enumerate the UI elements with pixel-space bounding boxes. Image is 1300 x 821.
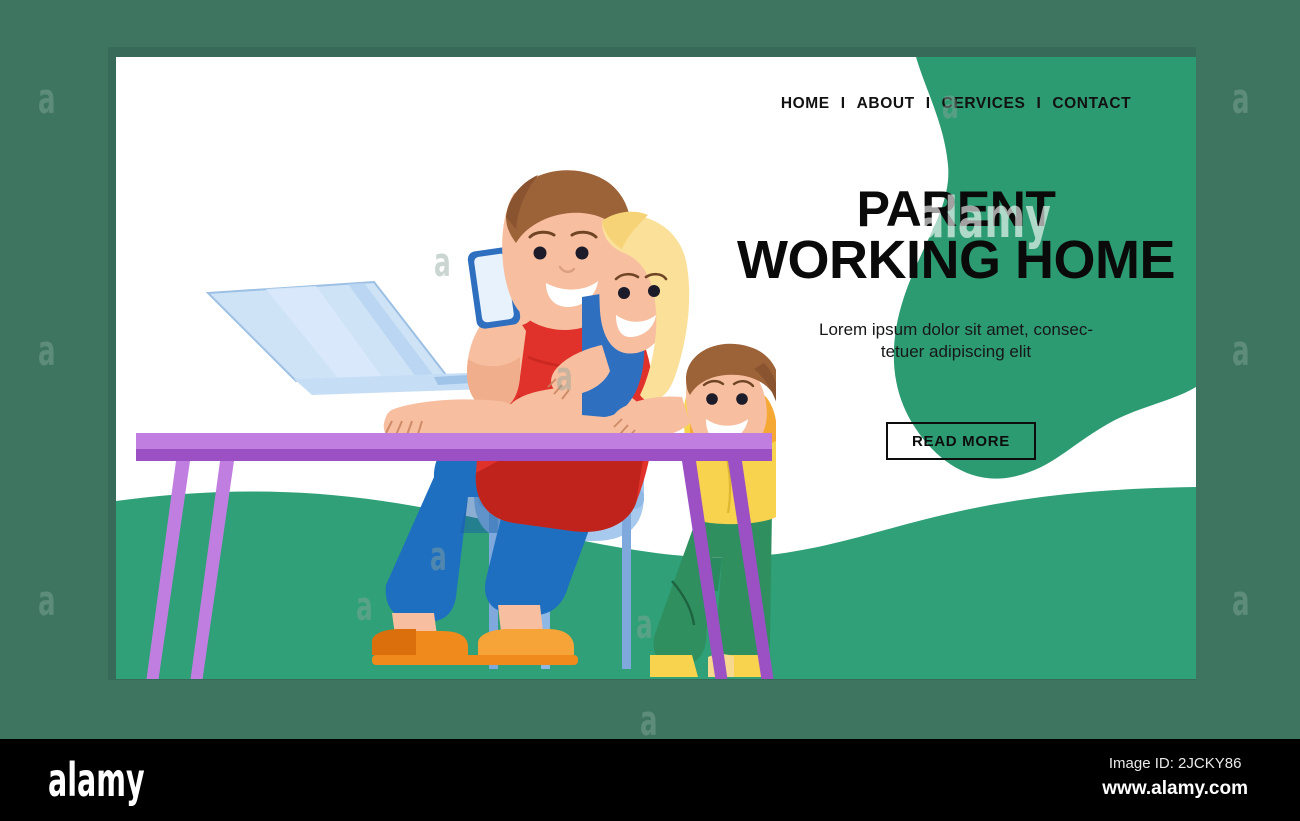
page-title: PARENT WORKING HOME (706, 185, 1196, 287)
stock-footer-bar: alamy Image ID: 2JCKY86 www.alamy.com (0, 739, 1300, 821)
laptop-illustration (208, 282, 488, 395)
nav-separator: I (915, 95, 942, 113)
watermark-a-icon: a (640, 700, 658, 739)
subcopy-line-2: tetuer adipiscing elit (881, 342, 1031, 361)
alamy-logo: alamy (48, 757, 145, 803)
watermark-a-icon: a (1232, 330, 1250, 372)
headline-line-2: WORKING HOME (706, 234, 1196, 287)
nav-separator: I (830, 95, 857, 113)
nav-item-home[interactable]: HOME (781, 95, 830, 113)
footer-meta: Image ID: 2JCKY86 www.alamy.com (1102, 753, 1248, 802)
image-id-label: Image ID: 2JCKY86 (1102, 753, 1248, 776)
nav-separator: I (1025, 95, 1052, 113)
nav-item-about[interactable]: ABOUT (857, 95, 915, 113)
screenshot-root: a a a a a a a (0, 0, 1300, 821)
watermark-a-icon: a (38, 78, 56, 120)
watermark-a-icon: a (1232, 580, 1250, 622)
watermark-a-icon: a (38, 580, 56, 622)
main-navigation[interactable]: HOME I ABOUT I CERVICES I CONTACT (716, 95, 1196, 113)
watermark-a-icon: a (38, 330, 56, 372)
read-more-button[interactable]: READ MORE (886, 422, 1036, 460)
hero-subcopy: Lorem ipsum dolor sit amet, consec- tetu… (736, 319, 1176, 364)
subcopy-line-1: Lorem ipsum dolor sit amet, consec- (819, 320, 1093, 339)
watermark-a-icon: a (1232, 78, 1250, 120)
hero-copy-column: HOME I ABOUT I CERVICES I CONTACT PARENT… (716, 57, 1196, 679)
nav-item-services[interactable]: CERVICES (942, 95, 1026, 113)
hero-illustration (116, 57, 776, 679)
headline-line-1: PARENT (857, 181, 1056, 237)
alamy-url: www.alamy.com (1102, 776, 1248, 803)
landing-page-card: HOME I ABOUT I CERVICES I CONTACT PARENT… (116, 57, 1196, 679)
nav-item-contact[interactable]: CONTACT (1052, 95, 1131, 113)
